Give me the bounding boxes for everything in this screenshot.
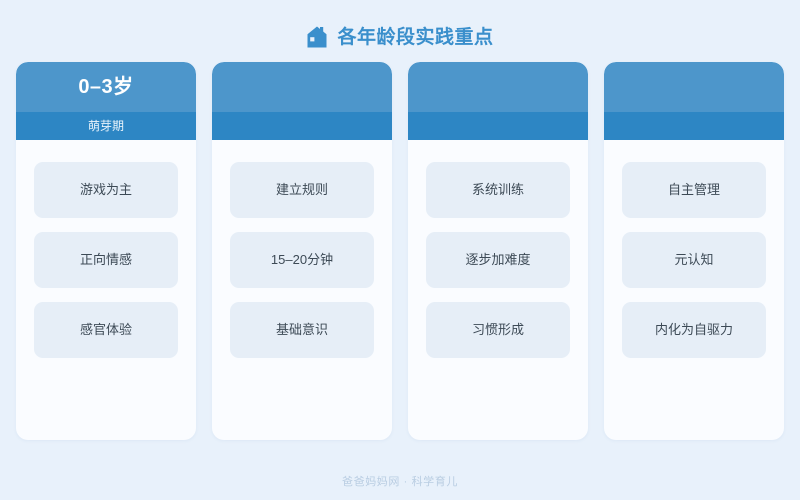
practice-pill-label: 系统训练 xyxy=(472,182,524,198)
age-stage-card[interactable]: 建立规则 15–20分钟 基础意识 xyxy=(212,62,392,440)
practice-pill[interactable]: 元认知 xyxy=(622,232,766,288)
card-header-main: 0–3岁 xyxy=(16,62,196,112)
card-header-main xyxy=(408,62,588,112)
card-body: 自主管理 元认知 内化为自驱力 xyxy=(604,140,784,440)
card-age-label: 0–3岁 xyxy=(78,77,133,97)
card-header-subband xyxy=(212,112,392,140)
card-header-subband: 萌芽期 xyxy=(16,112,196,140)
card-body: 系统训练 逐步加难度 习惯形成 xyxy=(408,140,588,440)
age-stage-card[interactable]: 系统训练 逐步加难度 习惯形成 xyxy=(408,62,588,440)
practice-pill[interactable]: 自主管理 xyxy=(622,162,766,218)
practice-pill-label: 自主管理 xyxy=(668,182,720,198)
practice-pill[interactable]: 系统训练 xyxy=(426,162,570,218)
card-header: 0–3岁 萌芽期 xyxy=(16,62,196,140)
practice-pill[interactable]: 内化为自驱力 xyxy=(622,302,766,358)
infographic-page: 各年龄段实践重点 0–3岁 萌芽期 游戏为主 正向情感 xyxy=(0,0,800,500)
card-body: 建立规则 15–20分钟 基础意识 xyxy=(212,140,392,440)
practice-pill[interactable]: 逐步加难度 xyxy=(426,232,570,288)
card-body: 游戏为主 正向情感 感官体验 xyxy=(16,140,196,440)
practice-pill[interactable]: 游戏为主 xyxy=(34,162,178,218)
practice-pill-label: 感官体验 xyxy=(80,322,132,338)
practice-pill[interactable]: 基础意识 xyxy=(230,302,374,358)
footer-credit: 爸爸妈妈网 · 科学育儿 xyxy=(342,477,458,488)
age-stage-card[interactable]: 0–3岁 萌芽期 游戏为主 正向情感 感官体验 xyxy=(16,62,196,440)
practice-pill[interactable]: 15–20分钟 xyxy=(230,232,374,288)
practice-pill-label: 习惯形成 xyxy=(472,322,524,338)
practice-pill[interactable]: 正向情感 xyxy=(34,232,178,288)
practice-pill-label: 游戏为主 xyxy=(80,182,132,198)
card-header xyxy=(212,62,392,140)
footer: 爸爸妈妈网 · 科学育儿 xyxy=(0,472,800,492)
age-stage-card[interactable]: 自主管理 元认知 内化为自驱力 xyxy=(604,62,784,440)
card-header xyxy=(408,62,588,140)
practice-pill-label: 基础意识 xyxy=(276,322,328,338)
practice-pill-label: 元认知 xyxy=(674,252,713,268)
practice-pill[interactable]: 感官体验 xyxy=(34,302,178,358)
practice-pill[interactable]: 建立规则 xyxy=(230,162,374,218)
card-header-main xyxy=(212,62,392,112)
practice-pill-label: 内化为自驱力 xyxy=(655,322,733,338)
card-header-subband xyxy=(604,112,784,140)
house-icon xyxy=(306,25,328,49)
practice-pill-label: 建立规则 xyxy=(276,182,328,198)
practice-pill-label: 逐步加难度 xyxy=(465,252,530,268)
practice-pill-label: 15–20分钟 xyxy=(271,252,333,268)
practice-pill-label: 正向情感 xyxy=(80,252,132,268)
age-stage-card-row: 0–3岁 萌芽期 游戏为主 正向情感 感官体验 xyxy=(16,62,784,440)
card-header-main xyxy=(604,62,784,112)
card-header xyxy=(604,62,784,140)
card-stage-label: 萌芽期 xyxy=(88,120,124,132)
page-title-row: 各年龄段实践重点 xyxy=(0,20,800,54)
card-header-subband xyxy=(408,112,588,140)
page-title: 各年龄段实践重点 xyxy=(337,28,493,47)
practice-pill[interactable]: 习惯形成 xyxy=(426,302,570,358)
